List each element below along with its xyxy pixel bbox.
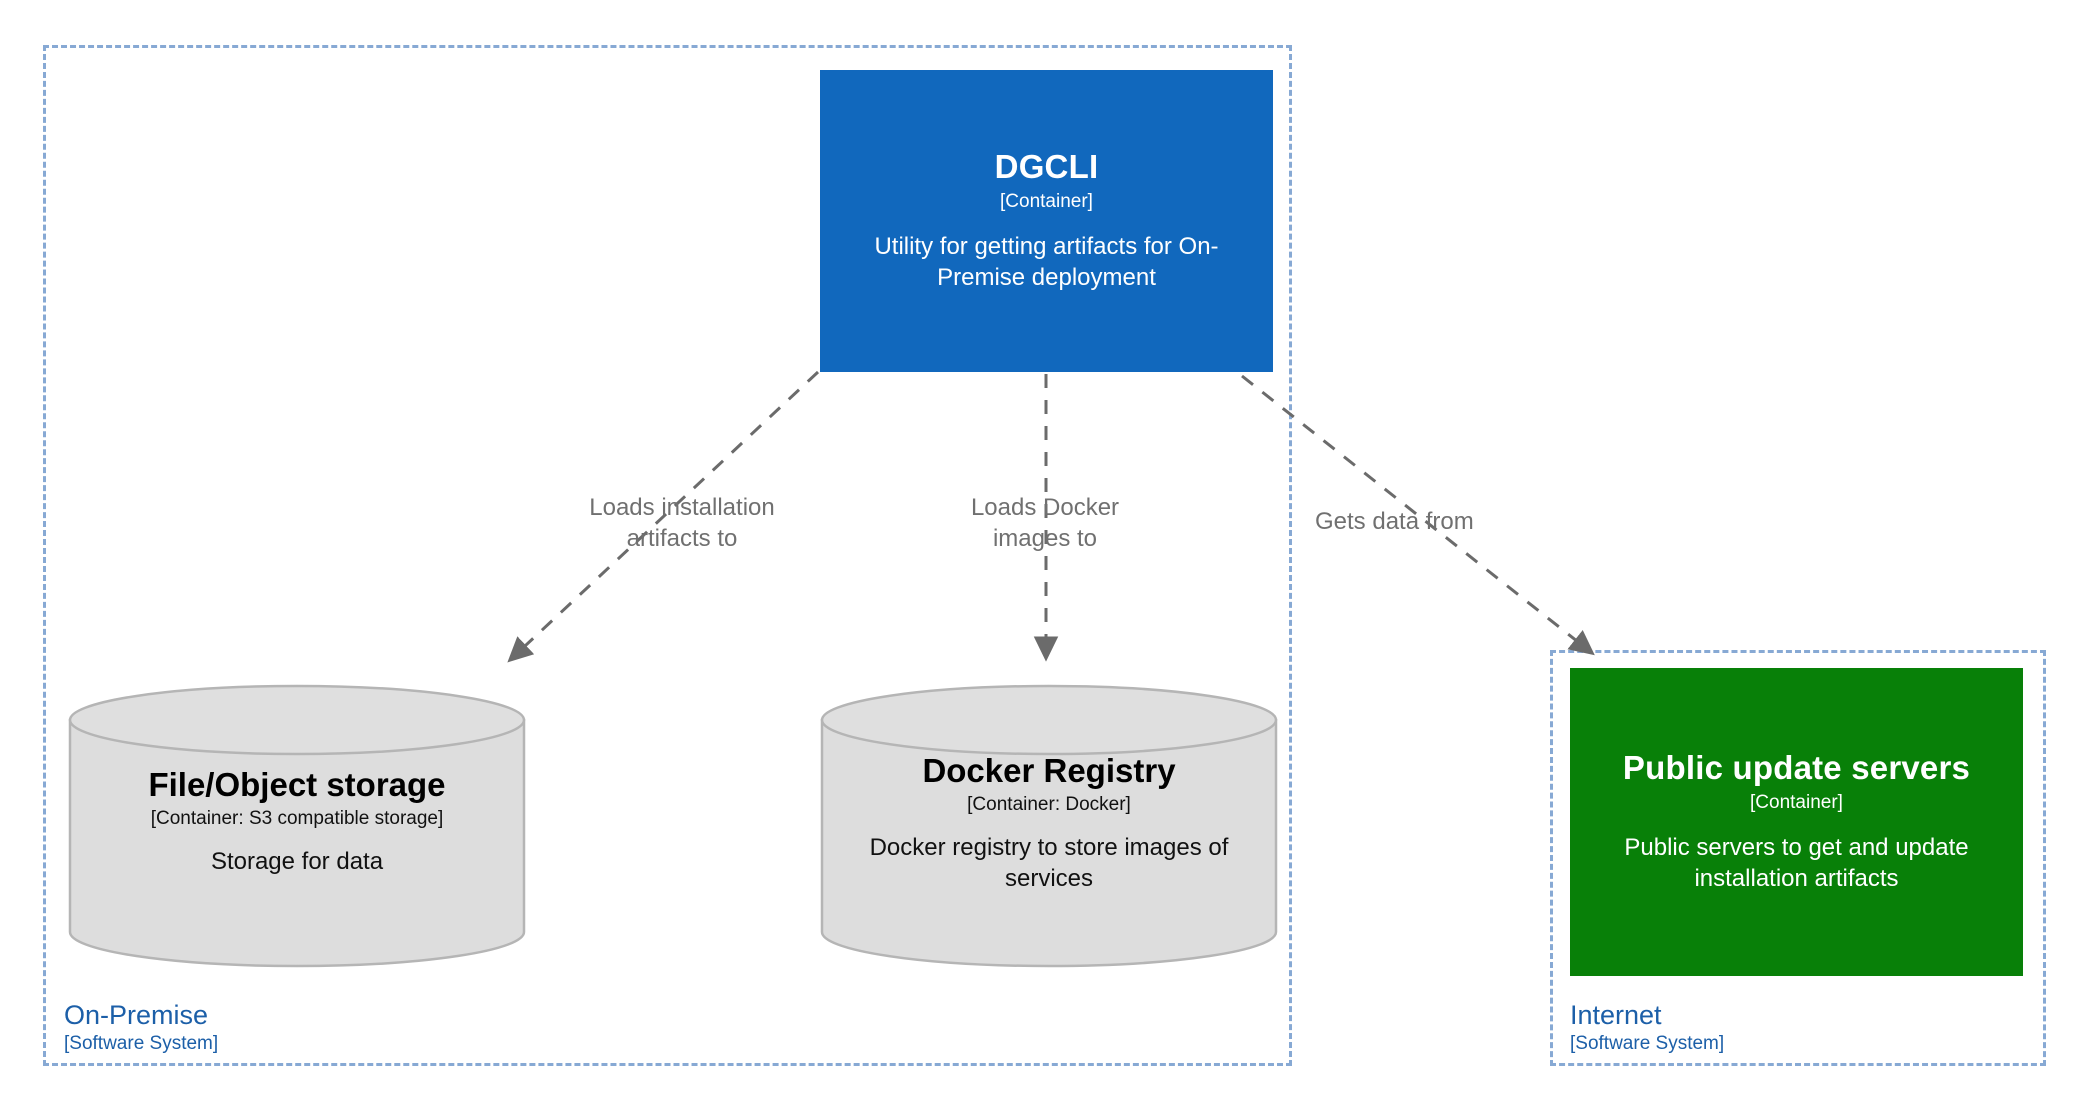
node-docker-registry-description: Docker registry to store images of servi… [842, 832, 1256, 894]
node-file-object-storage[interactable]: File/Object storage [Container: S3 compa… [68, 684, 526, 968]
node-docker-registry-text: Docker Registry [Container: Docker] Dock… [820, 752, 1278, 894]
node-docker-registry[interactable]: Docker Registry [Container: Docker] Dock… [820, 684, 1278, 968]
boundary-internet-label: Internet [Software System] [1570, 1000, 1724, 1055]
boundary-on-premise-name: On-Premise [64, 1000, 218, 1031]
node-docker-registry-type: [Container: Docker] [842, 794, 1256, 817]
node-docker-registry-title: Docker Registry [842, 752, 1256, 790]
node-public-update-servers-type: [Container] [1750, 792, 1843, 815]
edge-label-gets-data-from: Gets data from [1315, 506, 1555, 537]
boundary-on-premise-type: [Software System] [64, 1033, 218, 1055]
edge-label-loads-installation-artifacts-to: Loads installation artifacts to [537, 492, 827, 554]
boundary-on-premise-label: On-Premise [Software System] [64, 1000, 218, 1055]
boundary-internet-type: [Software System] [1570, 1033, 1724, 1055]
node-file-object-storage-title: File/Object storage [90, 766, 504, 804]
node-dgcli[interactable]: DGCLI [Container] Utility for getting ar… [820, 70, 1273, 372]
node-dgcli-type: [Container] [1000, 191, 1093, 214]
node-public-update-servers-description: Public servers to get and update install… [1584, 833, 2009, 894]
diagram-canvas: On-Premise [Software System] Internet [S… [0, 0, 2090, 1111]
node-dgcli-description: Utility for getting artifacts for On-Pre… [834, 232, 1259, 293]
node-dgcli-title: DGCLI [995, 148, 1099, 186]
node-public-update-servers-title: Public update servers [1623, 749, 1970, 787]
node-file-object-storage-text: File/Object storage [Container: S3 compa… [68, 766, 526, 877]
node-file-object-storage-description: Storage for data [90, 846, 504, 877]
node-public-update-servers[interactable]: Public update servers [Container] Public… [1570, 668, 2023, 976]
node-file-object-storage-type: [Container: S3 compatible storage] [90, 808, 504, 831]
edge-label-loads-docker-images-to: Loads Docker images to [920, 492, 1170, 554]
boundary-internet-name: Internet [1570, 1000, 1724, 1031]
